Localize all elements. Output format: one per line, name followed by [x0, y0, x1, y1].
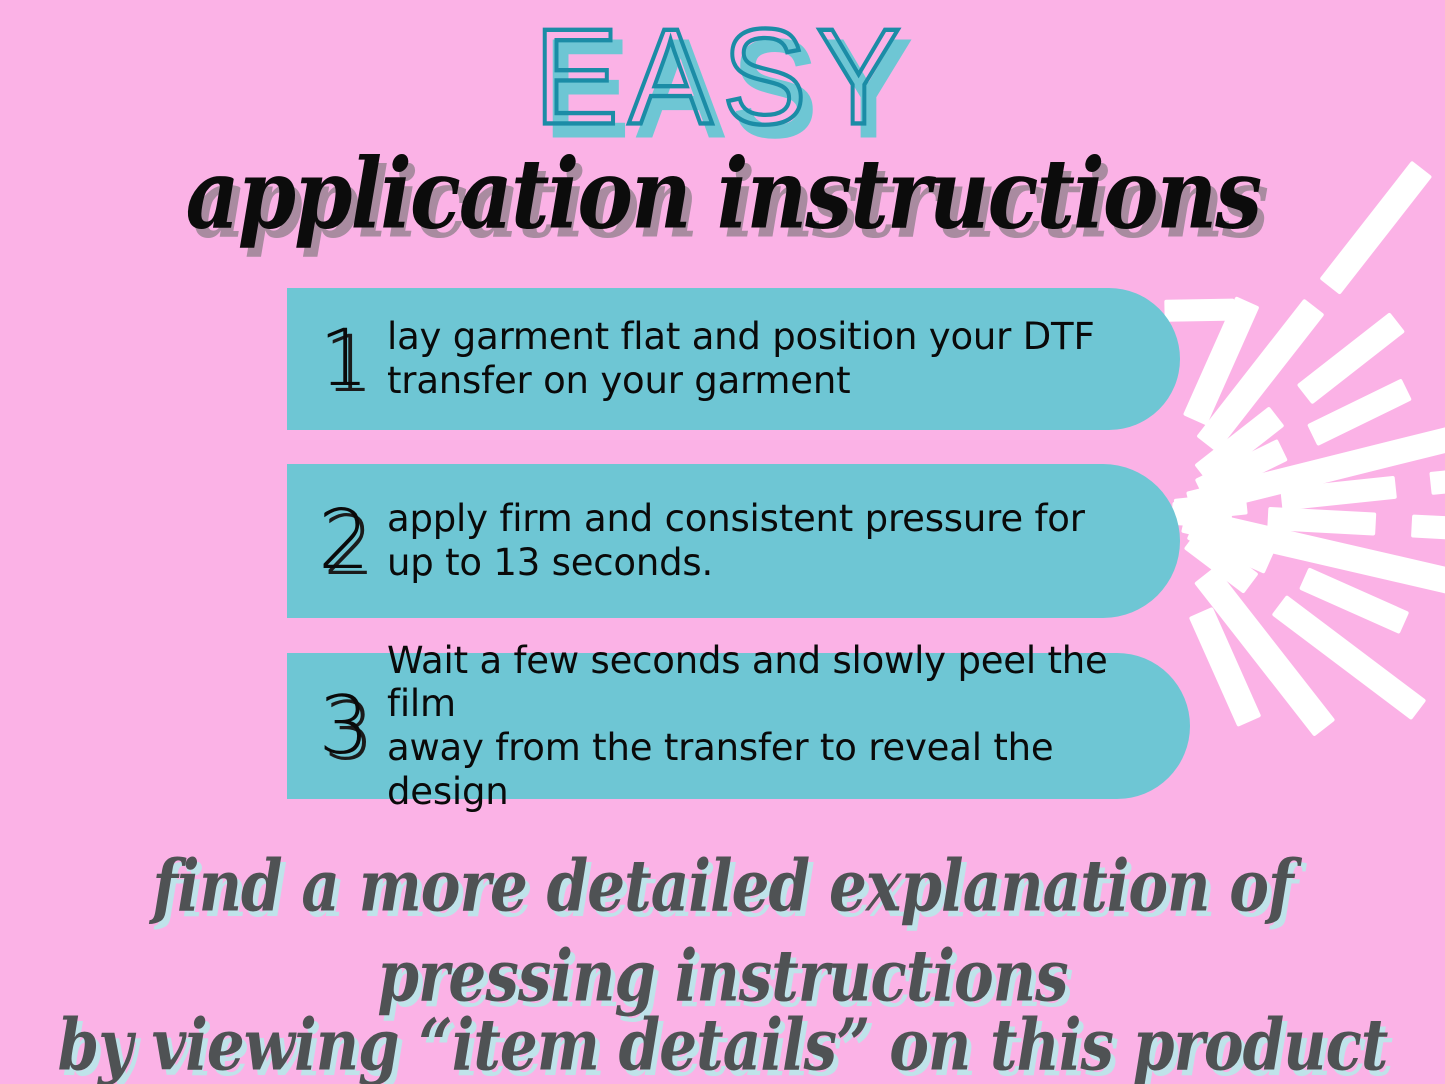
step-pill-3: 3 Wait a few seconds and slowly peel the… — [287, 653, 1190, 799]
step-2-line-1: apply firm and consistent pressure for — [387, 497, 1152, 541]
step-1-line-2: transfer on your garment — [387, 359, 1152, 403]
step-1-line-1: lay garment flat and position your DTF — [387, 315, 1152, 359]
page-title: EASY — [534, 9, 910, 145]
step-3-line-1: Wait a few seconds and slowly peel the f… — [387, 639, 1162, 726]
footer-note: find a more detailed explanation of pres… — [0, 852, 1445, 1084]
step-pill-2: 2 apply firm and consistent pressure for… — [287, 464, 1180, 618]
page-subtitle: application instructions — [185, 147, 1260, 243]
step-pill-1: 1 lay garment flat and position your DTF… — [287, 288, 1180, 430]
footer-line-2: by viewing “item details” on this produc… — [29, 1000, 1416, 1084]
step-text-1: lay garment flat and position your DTF t… — [387, 315, 1152, 402]
step-number-2: 2 — [305, 504, 383, 578]
step-number-1: 1 — [305, 324, 383, 394]
step-2-line-2: up to 13 seconds. — [387, 541, 1152, 585]
step-text-3: Wait a few seconds and slowly peel the f… — [387, 639, 1162, 814]
poster-canvas: EASY EASY application instructions 1 lay… — [0, 0, 1445, 1084]
subtitle-layer: application instructions — [0, 152, 1445, 272]
step-text-2: apply firm and consistent pressure for u… — [387, 497, 1152, 584]
footer-line-1: find a more detailed explanation of pres… — [29, 841, 1416, 1022]
step-3-line-2: away from the transfer to reveal the des… — [387, 726, 1162, 813]
step-number-3: 3 — [305, 690, 383, 762]
